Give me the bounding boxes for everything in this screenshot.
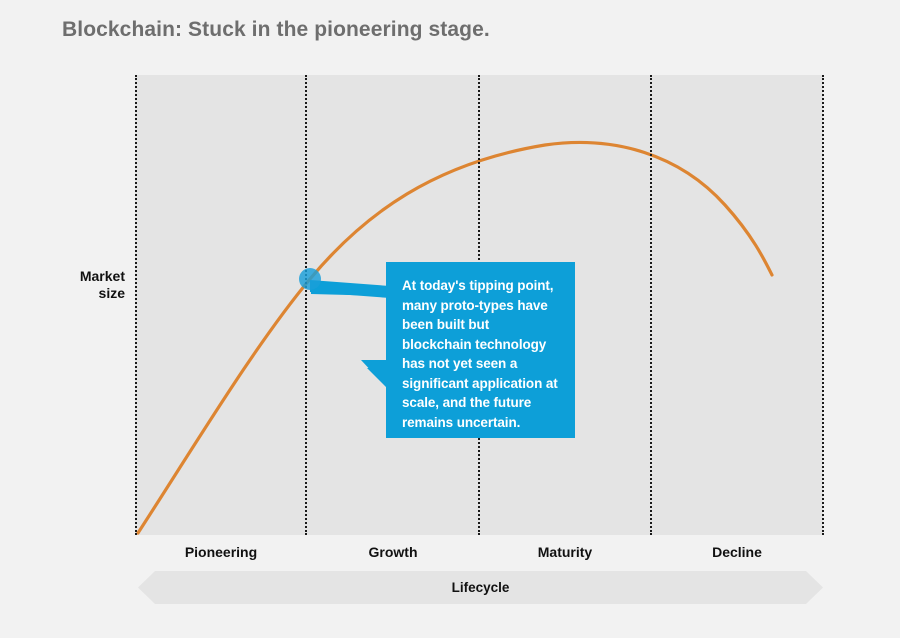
y-axis-label-line2: size [20,285,125,302]
y-axis-label-line1: Market [20,268,125,285]
page-title: Blockchain: Stuck in the pioneering stag… [62,18,490,42]
callout-box: At today's tipping point, many proto-typ… [386,262,575,438]
stage-label-growth: Growth [307,544,479,560]
stage-divider-right [822,75,824,535]
lifecycle-axis-label: Lifecycle [138,571,823,604]
stage-divider-left [135,75,137,535]
lifecycle-axis-banner: Lifecycle [138,571,823,604]
stage-label-decline: Decline [651,544,823,560]
stage-divider-maturity-decline [650,75,652,535]
stage-label-maturity: Maturity [479,544,651,560]
stage-label-pioneering: Pioneering [135,544,307,560]
tipping-point-marker[interactable] [299,268,321,290]
callout-text: At today's tipping point, many proto-typ… [402,276,561,432]
chart-page: Blockchain: Stuck in the pioneering stag… [0,0,900,638]
y-axis-label: Market size [20,268,125,302]
callout-tail [305,268,395,393]
